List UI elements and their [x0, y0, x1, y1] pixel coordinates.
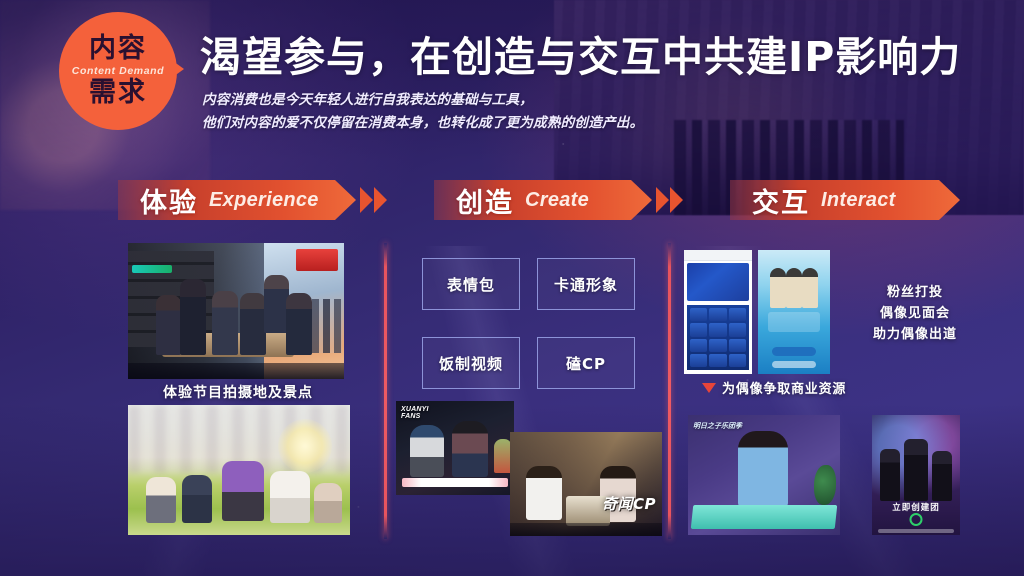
- night-person-2: [452, 421, 488, 477]
- fan-action-3: 助力偶像出道: [840, 324, 990, 345]
- app-grid-cell[interactable]: [709, 308, 726, 321]
- badge-line-2: 需求: [89, 78, 147, 108]
- concert-figure-1: [880, 449, 900, 501]
- studio-person-1: [156, 295, 181, 355]
- piano-plant: [814, 465, 836, 505]
- section-header-create: 创造 Create: [434, 180, 652, 220]
- grass-person-2: [182, 475, 212, 523]
- section-title-cn-create: 创造: [456, 181, 514, 220]
- concert-title: 立即创建团: [872, 501, 960, 513]
- grass-person-1: [146, 477, 176, 523]
- section-title-cn-interact: 交互: [752, 181, 810, 220]
- slide-canvas: 内容 Content Demand 需求 渴望参与，在创造与交互中共建IP影响力…: [0, 0, 1024, 576]
- app-grid-cell[interactable]: [709, 323, 726, 336]
- poster-headline-band: [768, 312, 820, 332]
- app-grid-cell[interactable]: [690, 308, 707, 321]
- interact-fan-actions: 粉丝打投 偶像见面会 助力偶像出道: [840, 282, 990, 345]
- dinner-subtitle-bar: [510, 523, 662, 536]
- section-header-interact: 交互 Interact: [730, 180, 960, 220]
- poster-idol-figures: [770, 262, 818, 308]
- app-grid-cell[interactable]: [690, 323, 707, 336]
- app-status-bar: [684, 250, 752, 261]
- experience-grass-photo: [128, 405, 350, 535]
- studio-person-4: [240, 293, 266, 355]
- concert-figure-2: [904, 439, 928, 501]
- poster-figure: [786, 268, 802, 308]
- app-grid-cell[interactable]: [729, 308, 746, 321]
- app-grid-cell[interactable]: [729, 339, 746, 352]
- sun-flare-icon: [278, 419, 332, 473]
- chevron-right-icon-4: [670, 187, 683, 213]
- interact-poster-screenshot: [758, 250, 830, 374]
- create-tag-box-1[interactable]: 表情包: [422, 258, 520, 310]
- section-header-experience: 体验 Experience: [118, 180, 356, 220]
- poster-secondary-text: [772, 361, 816, 368]
- interact-piano-photo: 明日之子乐团季: [688, 415, 840, 535]
- poster-figure: [770, 268, 786, 308]
- fan-action-2: 偶像见面会: [840, 303, 990, 324]
- interact-concert-photo: 立即创建团: [872, 415, 960, 535]
- xuanyi-fans-watermark: XUANYI FANS: [401, 406, 429, 421]
- badge-english-label: Content Demand: [72, 65, 164, 77]
- create-tag-box-4[interactable]: 磕CP: [537, 337, 635, 389]
- night-person-1: [410, 425, 444, 477]
- spotify-ring-icon: [910, 513, 923, 526]
- fan-action-1: 粉丝打投: [840, 282, 990, 303]
- subtitle-line-1: 内容消费也是今天年轻人进行自我表达的基础与工具，: [202, 89, 643, 112]
- badge-pointer-icon: [166, 56, 184, 82]
- concert-footer-bar: [878, 529, 954, 533]
- studio-subtitle-bar: [128, 363, 344, 379]
- create-dinner-photo: 奇闻CP: [510, 432, 662, 536]
- app-hero-banner: [687, 263, 749, 301]
- chevron-right-icon-1: [360, 187, 373, 213]
- chevron-right-icon-3: [656, 187, 669, 213]
- page-subtitle: 内容消费也是今天年轻人进行自我表达的基础与工具， 他们对内容的爱不仅停留在消费本…: [202, 89, 643, 136]
- subtitle-line-2: 他们对内容的爱不仅停留在消费本身，也转化成了更为成熟的创造产出。: [202, 112, 643, 135]
- app-grid-cell[interactable]: [709, 354, 726, 367]
- create-tag-box-3[interactable]: 饭制视频: [422, 337, 520, 389]
- section-title-en-interact: Interact: [821, 189, 896, 212]
- create-tag-box-2[interactable]: 卡通形象: [537, 258, 635, 310]
- poster-cta-button[interactable]: [772, 347, 816, 356]
- studio-person-6: [286, 293, 312, 355]
- dinner-person-left: [526, 466, 562, 520]
- interact-caption-row: 为偶像争取商业资源: [702, 378, 846, 397]
- app-grid-cell[interactable]: [709, 339, 726, 352]
- grass-person-5: [314, 483, 342, 523]
- section-title-en-create: Create: [525, 189, 589, 212]
- section-title-en-experience: Experience: [209, 189, 319, 212]
- experience-caption: 体验节目拍摄地及景点: [163, 382, 313, 402]
- triangle-down-icon: [702, 383, 716, 393]
- create-night-photo: XUANYI FANS: [396, 401, 514, 495]
- watermark-line-2: FANS: [401, 413, 429, 420]
- studio-person-2: [180, 279, 206, 355]
- piano-person: [738, 431, 788, 507]
- grass-person-3: [222, 461, 264, 521]
- studio-channel-logo-icon: [296, 249, 338, 271]
- studio-person-3: [212, 291, 238, 355]
- app-grid-cell[interactable]: [690, 354, 707, 367]
- poster-figure: [802, 268, 818, 308]
- experience-studio-photo: [128, 243, 344, 379]
- studio-live-badge-icon: [132, 265, 172, 273]
- app-grid-cell[interactable]: [690, 339, 707, 352]
- piano-keyboard: [691, 505, 838, 529]
- chevron-right-icon-2: [374, 187, 387, 213]
- concert-figure-3: [932, 451, 952, 501]
- show-logo-watermark: 明日之子乐团季: [693, 421, 742, 431]
- app-vote-grid: [687, 305, 749, 370]
- grass-person-4: [270, 471, 310, 523]
- app-grid-cell[interactable]: [729, 323, 746, 336]
- column-divider-1: [384, 243, 387, 539]
- interact-app-screenshot: [684, 250, 752, 374]
- night-subtitle-bar: [402, 478, 508, 487]
- app-grid-cell[interactable]: [729, 354, 746, 367]
- page-title: 渴望参与，在创造与交互中共建IP影响力: [200, 23, 961, 83]
- section-title-cn-experience: 体验: [140, 181, 198, 220]
- column-divider-2: [668, 243, 671, 539]
- dinner-show-title: 奇闻CP: [602, 493, 656, 514]
- content-demand-badge: 内容 Content Demand 需求: [59, 12, 177, 130]
- badge-line-1: 内容: [89, 34, 147, 64]
- interact-caption: 为偶像争取商业资源: [722, 378, 846, 397]
